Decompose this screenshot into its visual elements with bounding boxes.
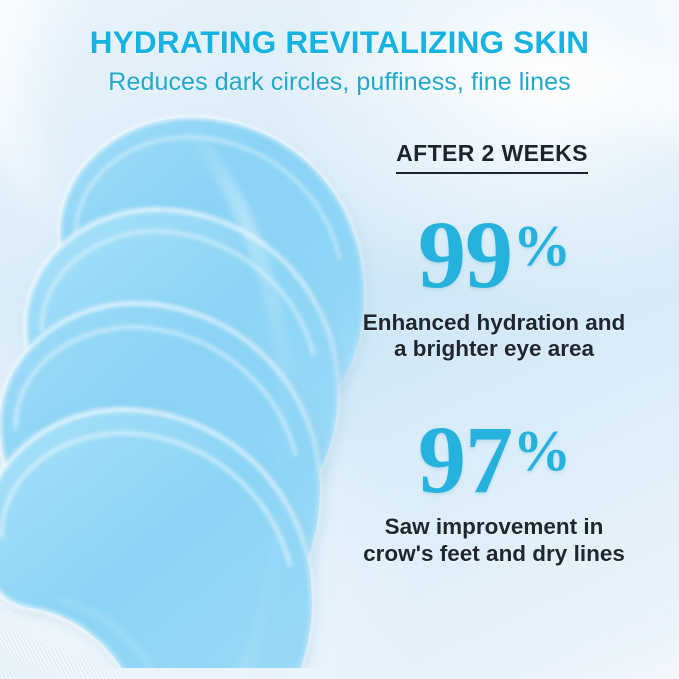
- gel-gloss-sweep: [188, 128, 289, 668]
- background-hatch-texture-inner: [0, 539, 290, 679]
- percent-symbol: %: [513, 213, 571, 278]
- after-2-weeks-label: AFTER 2 WEEKS: [396, 140, 588, 174]
- stat-value: 99: [418, 201, 512, 308]
- after-label-wrap: AFTER 2 WEEKS: [314, 140, 670, 174]
- stat-caption-hydration: Enhanced hydration and a brighter eye ar…: [318, 310, 670, 363]
- percent-symbol: %: [513, 418, 571, 483]
- stat-block-hydration: 99% Enhanced hydration and a brighter ey…: [318, 214, 670, 363]
- poster-canvas: HYDRATING REVITALIZING SKIN Reduces dark…: [0, 0, 679, 679]
- stat-caption-line-2: a brighter eye area: [318, 336, 670, 363]
- gel-patch-shape-3: [0, 303, 320, 630]
- stat-caption-line-1: Saw improvement in: [318, 514, 670, 541]
- stat-caption-crows-feet: Saw improvement in crow's feet and dry l…: [318, 514, 670, 567]
- stat-block-crows-feet: 97% Saw improvement in crow's feet and d…: [318, 419, 670, 568]
- stat-caption-line-1: Enhanced hydration and: [318, 310, 670, 337]
- gel-patch-shape-4: [0, 409, 312, 668]
- stat-percentage-97: 97%: [418, 419, 570, 502]
- results-panel: AFTER 2 WEEKS 99% Enhanced hydration and…: [318, 140, 670, 567]
- page-subtitle: Reduces dark circles, puffiness, fine li…: [0, 68, 679, 97]
- stat-percentage-99: 99%: [418, 214, 570, 297]
- gel-patch-shape-2: [26, 209, 338, 528]
- stat-caption-line-2: crow's feet and dry lines: [318, 541, 670, 568]
- stat-value: 97: [418, 406, 512, 513]
- page-title: HYDRATING REVITALIZING SKIN: [0, 24, 679, 61]
